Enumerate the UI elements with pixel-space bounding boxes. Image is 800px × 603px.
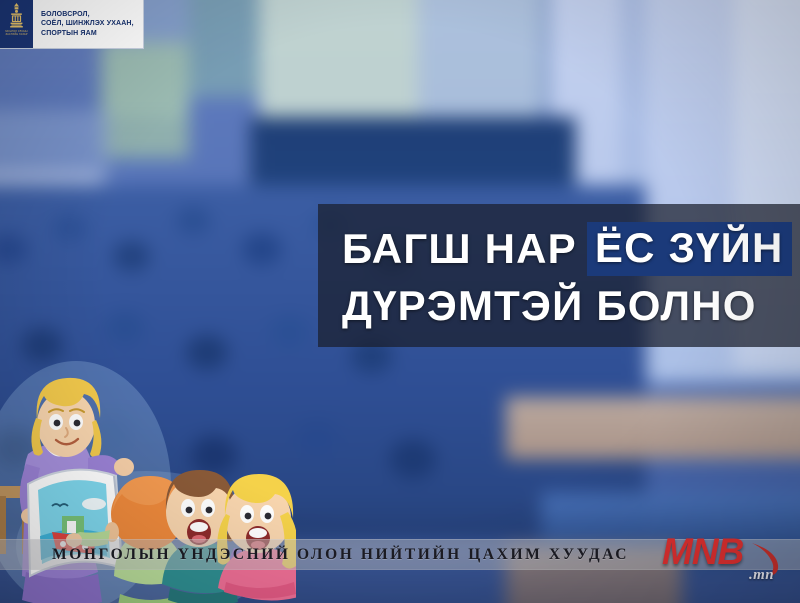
ministry-line-2: СОЁЛ, ШИНЖЛЭХ УХААН, [41, 19, 134, 29]
desk-row [506, 397, 800, 458]
ministry-line-3: СПОРТЫН ЯАМ [41, 29, 134, 39]
emblem-caption: МОНГОЛ УЛСЫН ЗАСГИЙН ГАЗАР [1, 30, 32, 36]
mnb-wordmark: MNB [662, 531, 743, 573]
ministry-logo: МОНГОЛ УЛСЫН ЗАСГИЙН ГАЗАР БОЛОВСРОЛ, СО… [0, 0, 144, 49]
headline-line-2: ДҮРЭМТЭЙ БОЛНО [342, 282, 800, 329]
emblem-box: МОНГОЛ УЛСЫН ЗАСГИЙН ГАЗАР [0, 0, 33, 48]
ministry-name: БОЛОВСРОЛ, СОЁЛ, ШИНЖЛЭХ УХААН, СПОРТЫН … [33, 0, 143, 48]
broadcast-frame: МОНГОЛ УЛСЫН ЗАСГИЙН ГАЗАР БОЛОВСРОЛ, СО… [0, 0, 800, 603]
wall-panel [189, 0, 259, 97]
wall-panel [418, 0, 541, 131]
wall-panel [101, 42, 189, 158]
mnb-channel-logo: MNB .mn [656, 529, 788, 585]
headline-highlight-text: ЁС ЗҮЙН [587, 222, 792, 275]
ministry-line-1: БОЛОВСРОЛ, [41, 10, 134, 20]
headline-overlay: БАГШ НАР ЁС ЗҮЙН ДҮРЭМТЭЙ БОЛНО [318, 204, 800, 347]
headline-plain-text: БАГШ НАР [342, 225, 587, 272]
soyombo-emblem-icon [8, 3, 25, 29]
mnb-domain: .mn [749, 567, 774, 584]
ticker-text: МОНГОЛЫН ҮНДЭСНИЙ ОЛОН НИЙТИЙН ЦАХИМ ХУУ… [52, 546, 629, 564]
headline-line-1: БАГШ НАР ЁС ЗҮЙН [342, 222, 800, 275]
